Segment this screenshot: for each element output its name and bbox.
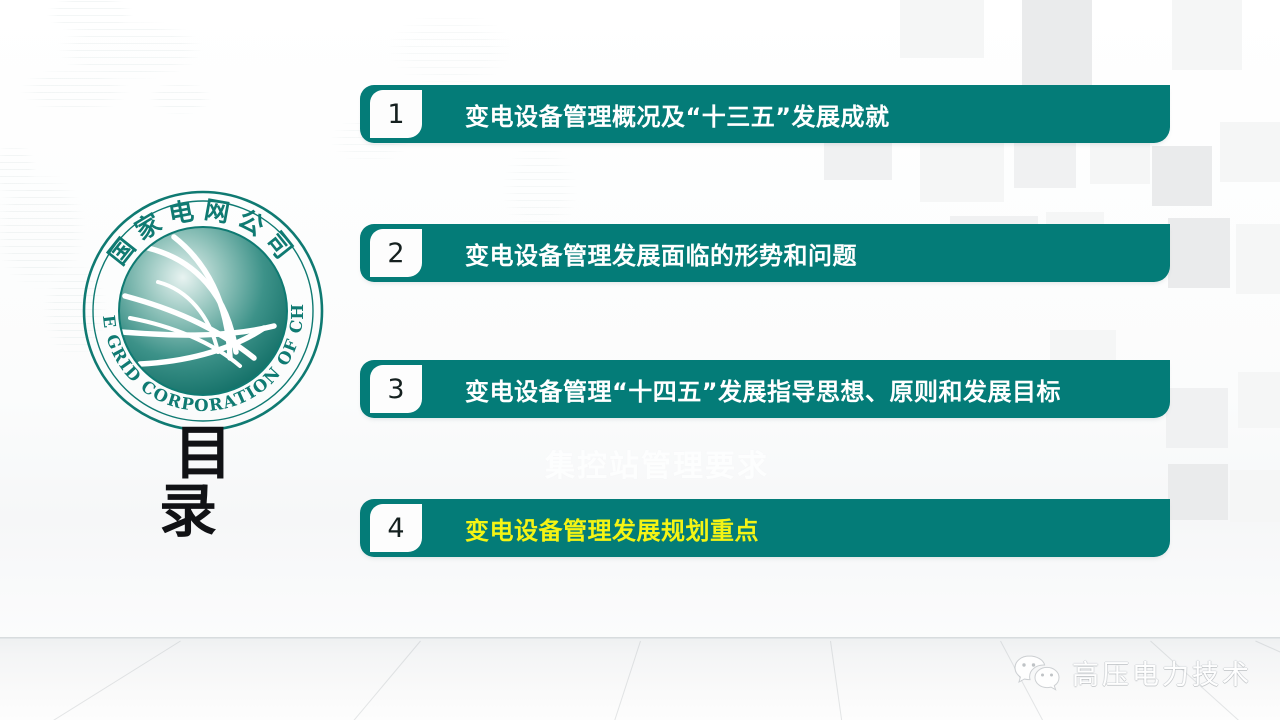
contents-list: 1 变电设备管理概况及“十三五”发展成就 2 变电设备管理发展面临的形势和问题 … [0,0,1280,720]
toc-item-4[interactable]: 4 变电设备管理发展规划重点 [360,499,1170,557]
toc-item-3-number: 3 [370,365,422,413]
toc-item-4-label: 变电设备管理发展规划重点 [465,499,759,557]
toc-item-1-number: 1 [370,90,422,138]
wechat-watermark: 高压电力技术 [1014,653,1252,692]
toc-item-3-label: 变电设备管理“十四五”发展指导思想、原则和发展目标 [465,360,1061,418]
toc-item-2-label: 变电设备管理发展面临的形势和问题 [465,224,857,282]
toc-item-1-label: 变电设备管理概况及“十三五”发展成就 [465,85,890,143]
toc-item-2-number: 2 [370,229,422,277]
toc-item-4-number: 4 [370,504,422,552]
toc-item-3[interactable]: 3 变电设备管理“十四五”发展指导思想、原则和发展目标 [360,360,1170,418]
toc-item-2[interactable]: 2 变电设备管理发展面临的形势和问题 [360,224,1170,282]
presentation-slide: 国家电网公司 STATE GRID CORPORATION OF CHINA 目… [0,0,1280,720]
watermark-label: 高压电力技术 [1072,653,1252,692]
toc-item-1[interactable]: 1 变电设备管理概况及“十三五”发展成就 [360,85,1170,143]
wechat-icon [1014,654,1060,692]
